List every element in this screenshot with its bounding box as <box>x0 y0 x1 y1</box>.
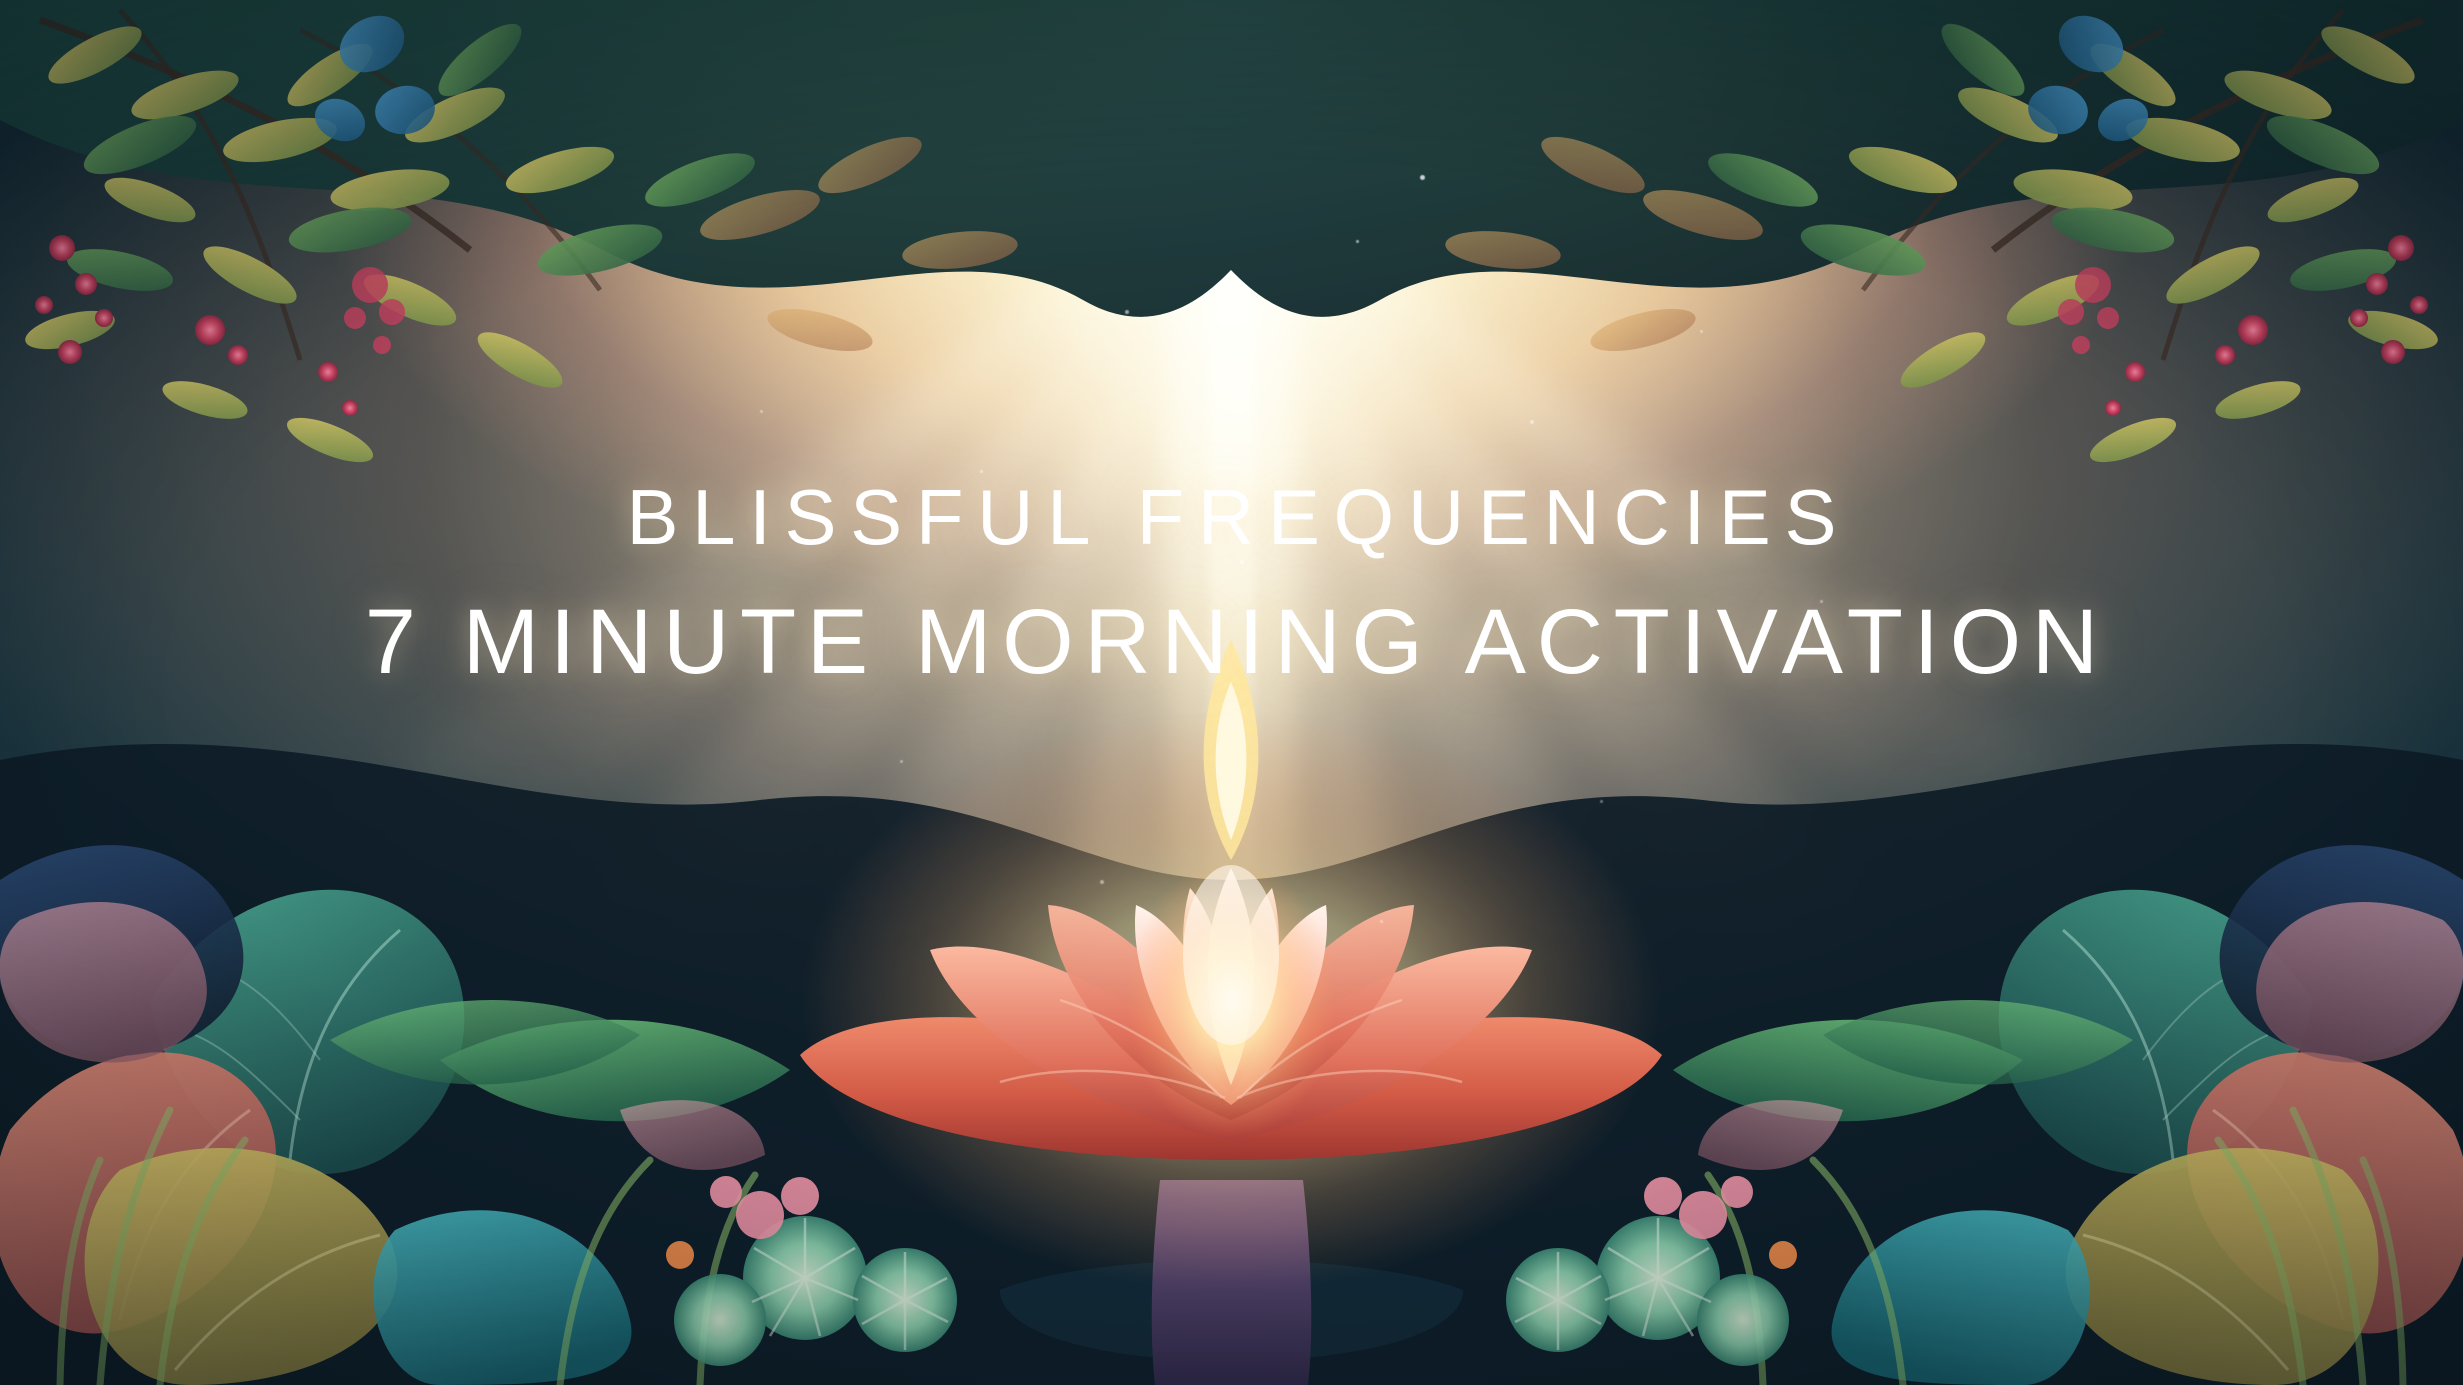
poster-canvas: BLISSFUL FREQUENCIES 7 MINUTE MORNING AC… <box>0 0 2463 1385</box>
vignette <box>0 0 2463 1385</box>
